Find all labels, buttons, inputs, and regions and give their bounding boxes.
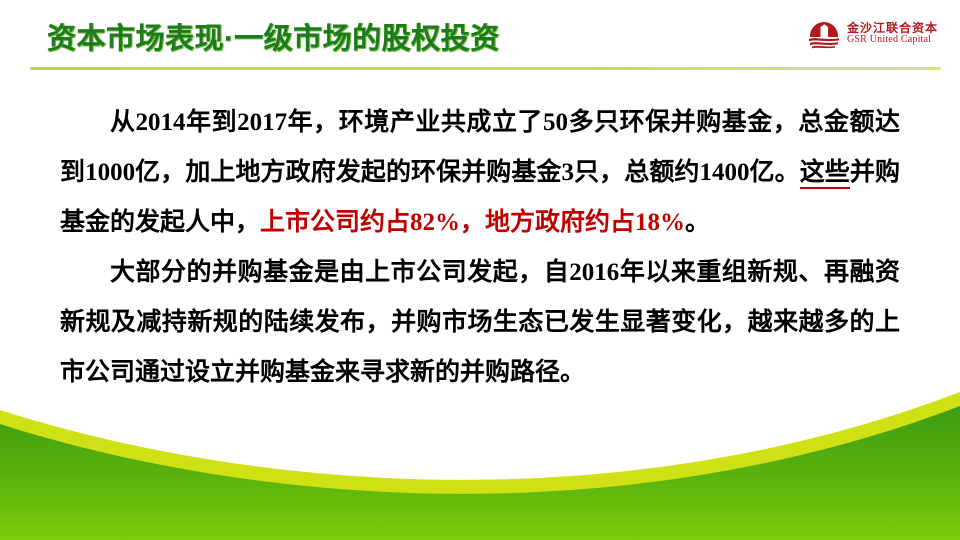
logo-text-en: GSR United Capital <box>847 35 938 46</box>
red-sun-wave-logo-icon <box>807 19 841 49</box>
paragraph-1-highlight: 上市公司约占82%，地方政府约占18% <box>260 209 685 236</box>
grass-silhouette <box>158 406 910 520</box>
paragraph-1-part-1: 从2014年到2017年，环境产业共成立了50多只环保并购基金，总金额达到100… <box>60 109 900 186</box>
page-title: 资本市场表现·一级市场的股权投资 <box>47 22 500 56</box>
logo-wordmark: 金沙江联合资本 GSR United Capital <box>847 22 938 45</box>
company-logo: 金沙江联合资本 GSR United Capital <box>807 19 938 49</box>
slide-header: 资本市场表现·一级市场的股权投资 金沙江联合资本 GSR United Capi… <box>0 0 960 80</box>
title-divider <box>30 67 941 70</box>
footer-decoration <box>0 380 960 540</box>
hill-edge-highlight <box>0 392 960 498</box>
paragraph-1: 从2014年到2017年，环境产业共成立了50多只环保并购基金，总金额达到100… <box>60 98 900 248</box>
hill-shape <box>0 406 960 540</box>
slide-body: 从2014年到2017年，环境产业共成立了50多只环保并购基金，总金额达到100… <box>60 98 900 398</box>
paragraph-2: 大部分的并购基金是由上市公司发起，自2016年以来重组新规、再融资新规及减持新规… <box>60 248 900 398</box>
paragraph-1-period: 。 <box>685 209 710 236</box>
slide: 资本市场表现·一级市场的股权投资 金沙江联合资本 GSR United Capi… <box>0 0 960 540</box>
paragraph-1-underlined: 这些 <box>800 159 850 189</box>
